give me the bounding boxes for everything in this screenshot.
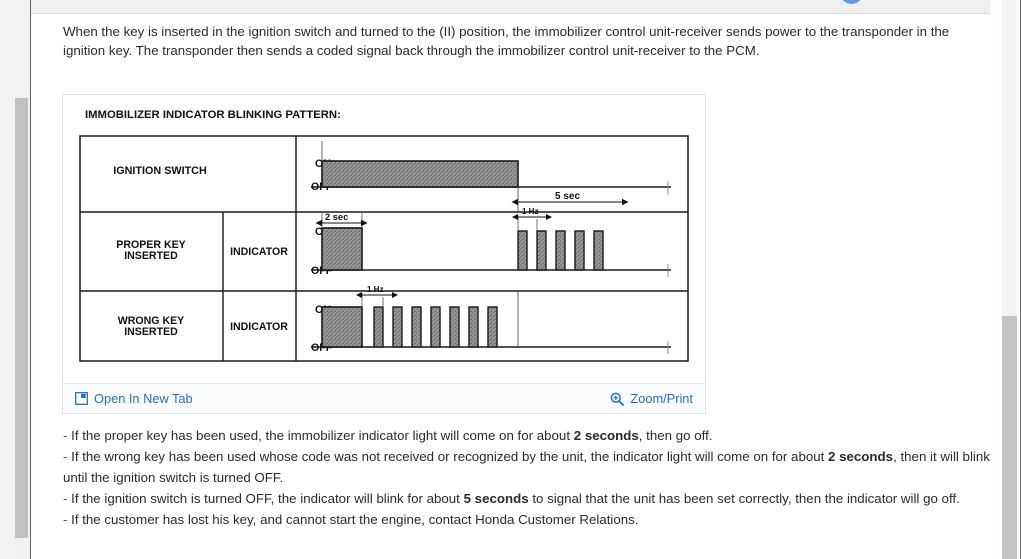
community-badge: 69 (840, 0, 863, 4)
list-item: - If the proper key has been used, the i… (63, 426, 990, 447)
list-bullet: - (63, 512, 67, 527)
external-window-icon (75, 392, 88, 405)
zoom-print-label: Zoom/Print (630, 391, 693, 406)
svg-text:INDICATOR: INDICATOR (230, 321, 288, 333)
right-scrollbar-thumb[interactable] (1002, 316, 1017, 559)
list-bullet: - (63, 428, 67, 443)
svg-text:IMMOBILIZER INDICATOR BLINKING: IMMOBILIZER INDICATOR BLINKING PATTERN: (85, 109, 341, 121)
svg-text:INSERTED: INSERTED (124, 250, 178, 262)
notes-list: - If the proper key has been used, the i… (63, 426, 990, 531)
figure-footer: Open In New Tab Zoom/Print (63, 383, 705, 413)
svg-text:INDICATOR: INDICATOR (230, 246, 288, 258)
left-scrollbar-thumb[interactable] (15, 98, 28, 538)
emphasis-text: 2 seconds (574, 428, 639, 443)
header-actions: Community 69 Create Quote (742, 0, 983, 4)
svg-text:2 sec: 2 sec (325, 212, 348, 222)
svg-text:1 Hz: 1 Hz (367, 285, 383, 294)
list-item: - If the wrong key has been used whose c… (63, 447, 990, 488)
svg-text:5 sec: 5 sec (555, 191, 580, 202)
page-title: 2009 Honda Truck Pilot V6-3.5L (55, 0, 535, 2)
open-in-new-tab-label: Open In New Tab (94, 391, 193, 406)
emphasis-text: 5 seconds (464, 491, 529, 506)
list-item: - If the customer has lost his key, and … (63, 510, 990, 531)
list-item: - If the ignition switch is turned OFF, … (63, 489, 990, 510)
svg-text:IGNITION SWITCH: IGNITION SWITCH (113, 165, 207, 177)
svg-text:1 Hz: 1 Hz (522, 207, 538, 216)
list-bullet: - (63, 449, 67, 464)
intro-paragraph: When the key is inserted in the ignition… (63, 22, 988, 60)
app-root: 2009 Honda Truck Pilot V6-3.5L Community… (0, 0, 1021, 559)
article-content: When the key is inserted in the ignition… (31, 14, 990, 559)
open-in-new-tab-link[interactable]: Open In New Tab (75, 391, 193, 406)
magnifier-plus-icon (610, 392, 624, 406)
figure-card: IMMOBILIZER INDICATOR BLINKING PATTERN: (62, 94, 706, 414)
svg-text:INSERTED: INSERTED (124, 326, 178, 338)
figure-image[interactable]: IMMOBILIZER INDICATOR BLINKING PATTERN: (63, 95, 705, 384)
community-button[interactable]: Community 69 (742, 0, 864, 4)
emphasis-text: 2 seconds (828, 449, 893, 464)
blinking-pattern-diagram: IMMOBILIZER INDICATOR BLINKING PATTERN: (63, 95, 705, 384)
zoom-print-link[interactable]: Zoom/Print (610, 391, 693, 406)
list-bullet: - (63, 491, 67, 506)
